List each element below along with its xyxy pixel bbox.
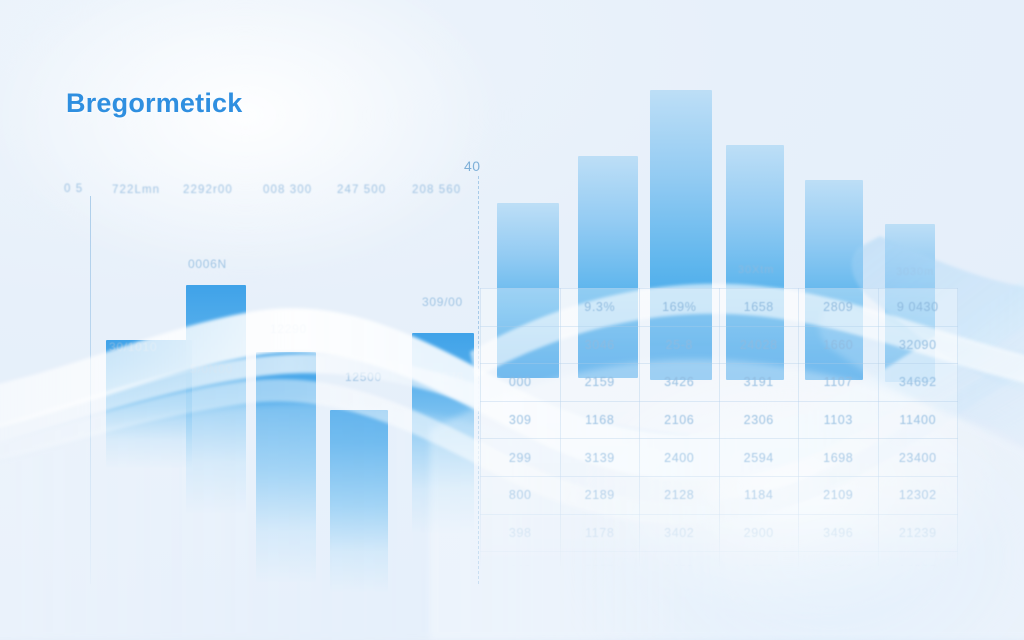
- table-cell: 398: [481, 514, 561, 552]
- table-cell: 1178: [560, 514, 640, 552]
- table-cell: 309: [481, 401, 561, 439]
- table-row[interactable]: 398 1178 3402 2900 3496 21239: [481, 514, 958, 552]
- table-cell: 2128: [640, 476, 720, 514]
- table-cell: 25-8: [640, 326, 720, 364]
- data-table-container[interactable]: 9.3% 169% 1658 2809 9 0430 3046 25-8 240…: [480, 288, 958, 566]
- table-cell: [481, 289, 561, 327]
- table-cell: 2594: [719, 439, 799, 477]
- table-cell: 23400: [878, 439, 958, 477]
- table-cell: 1184: [719, 476, 799, 514]
- table-cell: 32090: [878, 326, 958, 364]
- data-table-body: 9.3% 169% 1658 2809 9 0430 3046 25-8 240…: [481, 289, 958, 590]
- bar-left-1-value: 30/1010: [109, 340, 157, 354]
- column-label-1: 722Lmn: [112, 184, 160, 196]
- illustration-canvas: Bregormetick 0 5 722Lmn 2292r00 008 300 …: [0, 0, 1024, 640]
- column-label-0: 0 5: [64, 183, 83, 195]
- table-cell: 2109: [799, 476, 879, 514]
- table-cell: 1660: [799, 326, 879, 364]
- bar-left-1[interactable]: [106, 340, 192, 468]
- table-cell: 1658: [719, 289, 799, 327]
- table-row[interactable]: 309 1168 2106 2306 1103 11400: [481, 401, 958, 439]
- table-cell: 9 0430: [878, 289, 958, 327]
- bar-left-5-value: 309/00: [422, 295, 463, 309]
- table-cell: 34692: [878, 364, 958, 402]
- table-row[interactable]: 000 2159 3426 3191 1107 34692: [481, 364, 958, 402]
- center-dashed-axis: [478, 176, 479, 584]
- table-cell: 3496: [799, 514, 879, 552]
- column-label-2: 2292r00: [183, 184, 233, 196]
- table-cell: 3426: [640, 364, 720, 402]
- bar-left-secondary-1: 5/0N00: [190, 362, 233, 376]
- table-cell: 000: [481, 364, 561, 402]
- table-cell: 3046: [560, 326, 640, 364]
- table-cell: 1168: [560, 401, 640, 439]
- bar-left-5[interactable]: [412, 333, 474, 533]
- left-axis-line: [90, 196, 91, 584]
- table-cell: 2106: [640, 401, 720, 439]
- table-cell: 169%: [640, 289, 720, 327]
- table-overhead-label-2: 3030m: [896, 266, 934, 278]
- table-cell: 2809: [799, 289, 879, 327]
- table-cell: 1698: [799, 439, 879, 477]
- axis-tick-label-40: 40: [464, 158, 481, 174]
- page-title: Bregormetick: [66, 88, 242, 119]
- table-overhead-label-1: 30Xtm: [738, 264, 774, 276]
- table-cell: 1103: [799, 401, 879, 439]
- bar-left-3-value: 12290: [270, 322, 307, 336]
- table-cell: 2400: [640, 439, 720, 477]
- bar-left-2[interactable]: [186, 285, 246, 513]
- table-cell: 1107: [799, 364, 879, 402]
- bar-left-secondary-2: 03576: [427, 370, 464, 384]
- table-cell: 2189: [560, 476, 640, 514]
- bar-left-4-value: 12500: [345, 370, 382, 384]
- table-cell: 299: [481, 439, 561, 477]
- table-cell: 9.3%: [560, 289, 640, 327]
- table-cell: 800: [481, 476, 561, 514]
- table-cell: [481, 326, 561, 364]
- bar-left-2-value: 0006N: [188, 257, 227, 271]
- table-cell: 3191: [719, 364, 799, 402]
- column-label-3: 008 300: [263, 184, 312, 196]
- table-cell: 3402: [640, 514, 720, 552]
- table-row[interactable]: 3046 25-8 24028 1660 32090: [481, 326, 958, 364]
- column-label-4: 247 500: [337, 184, 386, 196]
- table-cell: 11400: [878, 401, 958, 439]
- table-row[interactable]: 9.3% 169% 1658 2809 9 0430: [481, 289, 958, 327]
- table-cell: 2159: [560, 364, 640, 402]
- table-row[interactable]: 299 3139 2400 2594 1698 23400: [481, 439, 958, 477]
- bar-left-3[interactable]: [256, 352, 316, 582]
- table-cell: 2306: [719, 401, 799, 439]
- table-cell: 2900: [719, 514, 799, 552]
- table-cell: 3139: [560, 439, 640, 477]
- table-cell: 24028: [719, 326, 799, 364]
- table-row[interactable]: 800 2189 2128 1184 2109 12302: [481, 476, 958, 514]
- table-cell: 12302: [878, 476, 958, 514]
- table-cell: 21239: [878, 514, 958, 552]
- data-table: 9.3% 169% 1658 2809 9 0430 3046 25-8 240…: [480, 288, 958, 590]
- bar-left-4[interactable]: [330, 410, 388, 592]
- column-label-5: 208 560: [412, 184, 461, 196]
